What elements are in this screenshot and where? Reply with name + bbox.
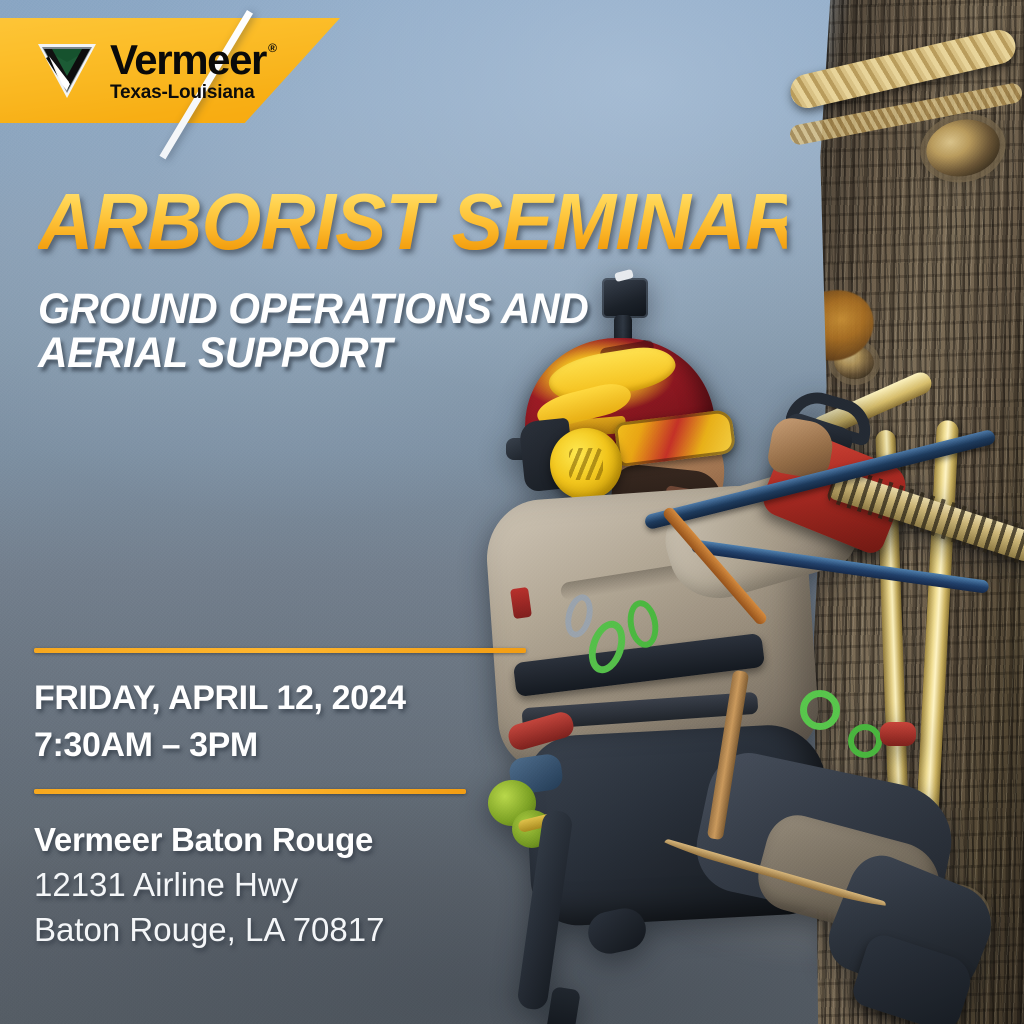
page-subtitle: GROUND OPERATIONS AND AERIAL SUPPORT [38,288,646,376]
vermeer-wordmark: Vermeer ® Texas-Louisiana [110,38,266,104]
brand-name: Vermeer [110,40,266,80]
poster-canvas: Vermeer ® Texas-Louisiana ARBORIST SEMIN… [0,0,1024,1024]
address-line-2: Baton Rouge, LA 70817 [34,911,384,949]
divider-top [34,648,526,653]
registered-mark: ® [268,41,277,55]
subtitle-line-2: AERIAL SUPPORT [38,332,646,376]
address-line-1: 12131 Airline Hwy [34,866,298,904]
venue-name: Vermeer Baton Rouge [34,821,373,859]
vermeer-v-logo-icon [36,38,98,100]
brand-region: Texas-Louisiana [110,82,266,104]
page-title: ARBORIST SEMINAR [38,185,787,259]
subtitle-line-1: GROUND OPERATIONS AND [38,288,646,332]
event-date: FRIDAY, APRIL 12, 2024 [34,679,406,718]
divider-bottom [34,789,466,794]
event-time: 7:30AM – 3PM [34,726,258,765]
vermeer-logo: Vermeer ® Texas-Louisiana [36,38,266,104]
